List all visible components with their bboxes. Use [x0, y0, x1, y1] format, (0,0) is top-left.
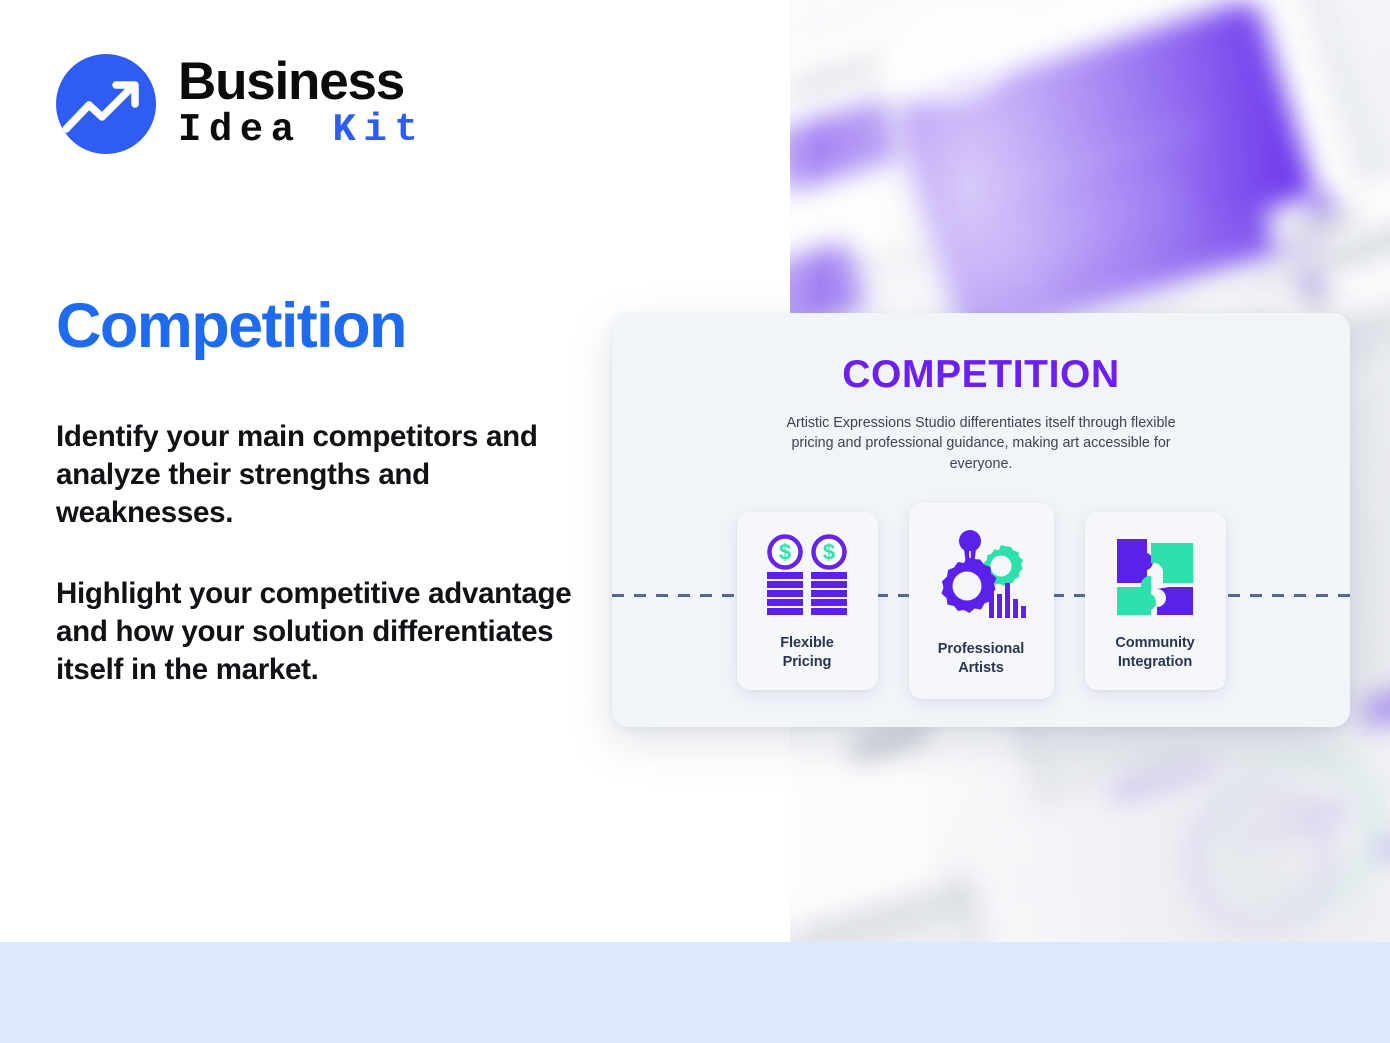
- body-copy: Identify your main competitors and analy…: [56, 418, 576, 689]
- page-title: Competition: [56, 293, 406, 359]
- svg-text:$: $: [779, 540, 791, 565]
- feature-label-professional-artists: Professional Artists: [938, 640, 1024, 678]
- slide-canvas: Business Idea Kit Competition Identify y…: [0, 0, 1390, 1043]
- brand-kit-text: Kit: [333, 108, 426, 152]
- feature-label-line1: Professional: [938, 641, 1024, 657]
- preview-description: Artistic Expressions Studio differentiat…: [771, 413, 1191, 474]
- brand-name-line1: Business: [178, 55, 425, 109]
- feature-label-line2: Artists: [958, 660, 1004, 676]
- brand-name-line2: Idea Kit: [178, 109, 425, 153]
- feature-label-line2: Pricing: [783, 654, 832, 670]
- brand-idea-text: Idea: [178, 108, 302, 152]
- coin-stack-dollar-icon: $ $: [759, 531, 855, 623]
- brand-logo: Business Idea Kit: [56, 54, 425, 154]
- feature-label-flexible-pricing: Flexible Pricing: [780, 634, 834, 672]
- trending-up-arrow-icon: [56, 54, 156, 154]
- bottom-accent-strip: [0, 942, 1390, 1043]
- feature-card-professional-artists[interactable]: Professional Artists: [909, 503, 1054, 699]
- left-content-panel: Business Idea Kit Competition Identify y…: [0, 0, 600, 942]
- feature-label-line2: Integration: [1118, 654, 1192, 670]
- feature-label-community-integration: Community Integration: [1115, 634, 1194, 672]
- body-paragraph-1: Identify your main competitors and analy…: [56, 418, 576, 532]
- feature-row: $ $: [612, 503, 1350, 699]
- svg-text:$: $: [823, 540, 835, 565]
- body-paragraph-2: Highlight your competitive advantage and…: [56, 575, 576, 689]
- feature-card-community-integration[interactable]: Community Integration: [1085, 512, 1226, 690]
- preview-title: COMPETITION: [612, 355, 1350, 394]
- puzzle-pieces-icon: [1111, 531, 1199, 623]
- feature-label-line1: Community: [1115, 635, 1194, 651]
- slide-preview-card[interactable]: COMPETITION Artistic Expressions Studio …: [612, 313, 1350, 727]
- gears-lightbulb-chart-icon: [929, 525, 1033, 629]
- feature-card-flexible-pricing[interactable]: $ $: [737, 512, 878, 690]
- feature-label-line1: Flexible: [780, 635, 834, 651]
